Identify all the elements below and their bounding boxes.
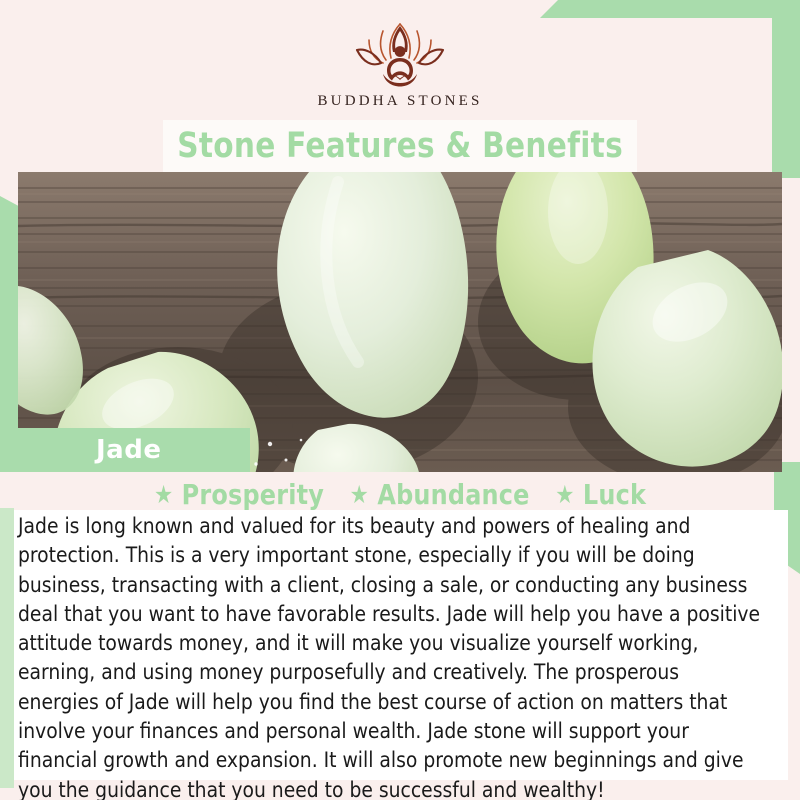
keyword-row: ★ Prosperity ★ Abundance ★ Luck bbox=[0, 478, 800, 511]
brand-logo: BUDDHA STONES bbox=[0, 18, 800, 110]
description-text: Jade is long known and valued for its be… bbox=[18, 512, 763, 800]
keyword-abundance: Abundance bbox=[377, 478, 529, 511]
stone-name-label: Jade bbox=[18, 428, 250, 472]
title-banner: Stone Features & Benefits bbox=[163, 120, 637, 172]
decor-accent-top-right bbox=[540, 0, 800, 18]
keyword-luck: Luck bbox=[583, 478, 646, 511]
keyword-list: ★ Prosperity ★ Abundance ★ Luck bbox=[154, 478, 646, 511]
page-title: Stone Features & Benefits bbox=[177, 126, 623, 166]
keyword-prosperity: Prosperity bbox=[182, 478, 324, 511]
lotus-meditation-icon bbox=[345, 18, 455, 90]
star-icon: ★ bbox=[350, 482, 369, 507]
star-icon: ★ bbox=[154, 482, 173, 507]
decor-accent-left-text-band bbox=[0, 508, 14, 788]
star-icon: ★ bbox=[555, 482, 574, 507]
brand-wordmark: BUDDHA STONES bbox=[0, 93, 800, 110]
stone-photo bbox=[18, 172, 782, 472]
stone-benefits-infographic: BUDDHA STONES Stone Features & Benefits bbox=[0, 0, 800, 800]
stone-photo-illustration bbox=[18, 172, 782, 472]
stone-name-text: Jade bbox=[96, 435, 161, 465]
